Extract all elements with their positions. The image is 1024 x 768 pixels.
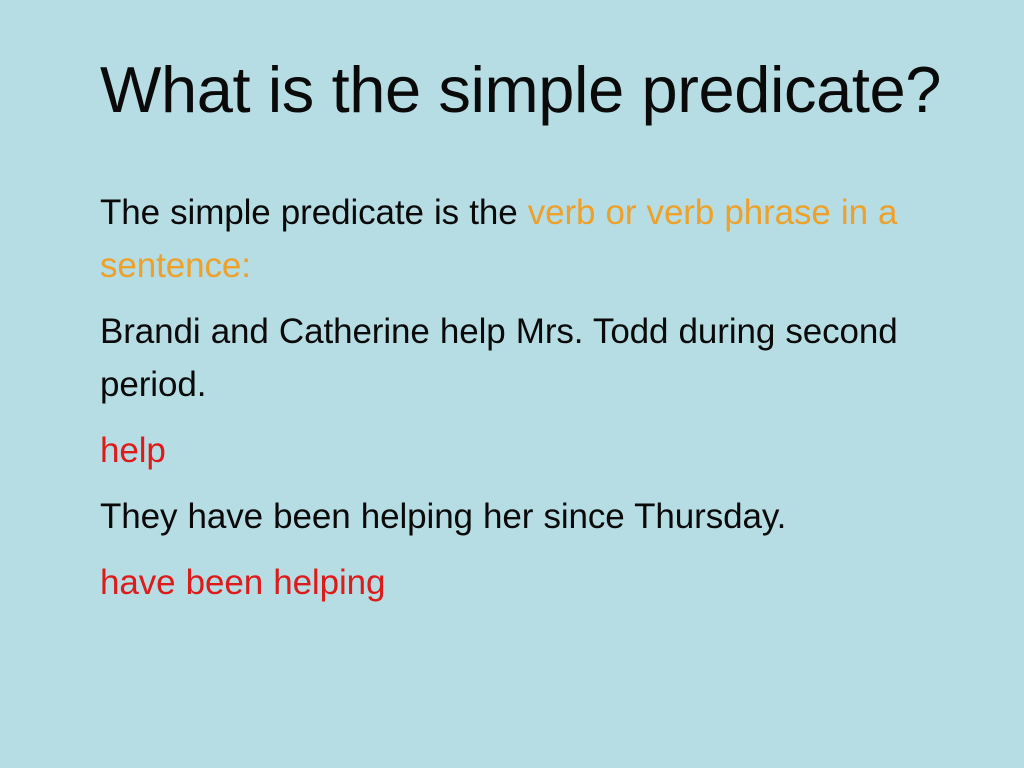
slide-body-content: The simple predicate is the verb or verb… <box>100 186 912 609</box>
page-title: What is the simple predicate? <box>100 56 960 125</box>
definition-lead-text: The simple predicate is the <box>100 193 528 232</box>
example-two-answer: have been helping <box>100 556 912 609</box>
definition-paragraph: The simple predicate is the verb or verb… <box>100 186 912 292</box>
slide-canvas: What is the simple predicate? The simple… <box>0 0 1024 768</box>
example-one-answer: help <box>100 424 912 477</box>
example-two-sentence: They have been helping her since Thursda… <box>100 490 912 543</box>
example-one-sentence: Brandi and Catherine help Mrs. Todd duri… <box>100 305 912 411</box>
